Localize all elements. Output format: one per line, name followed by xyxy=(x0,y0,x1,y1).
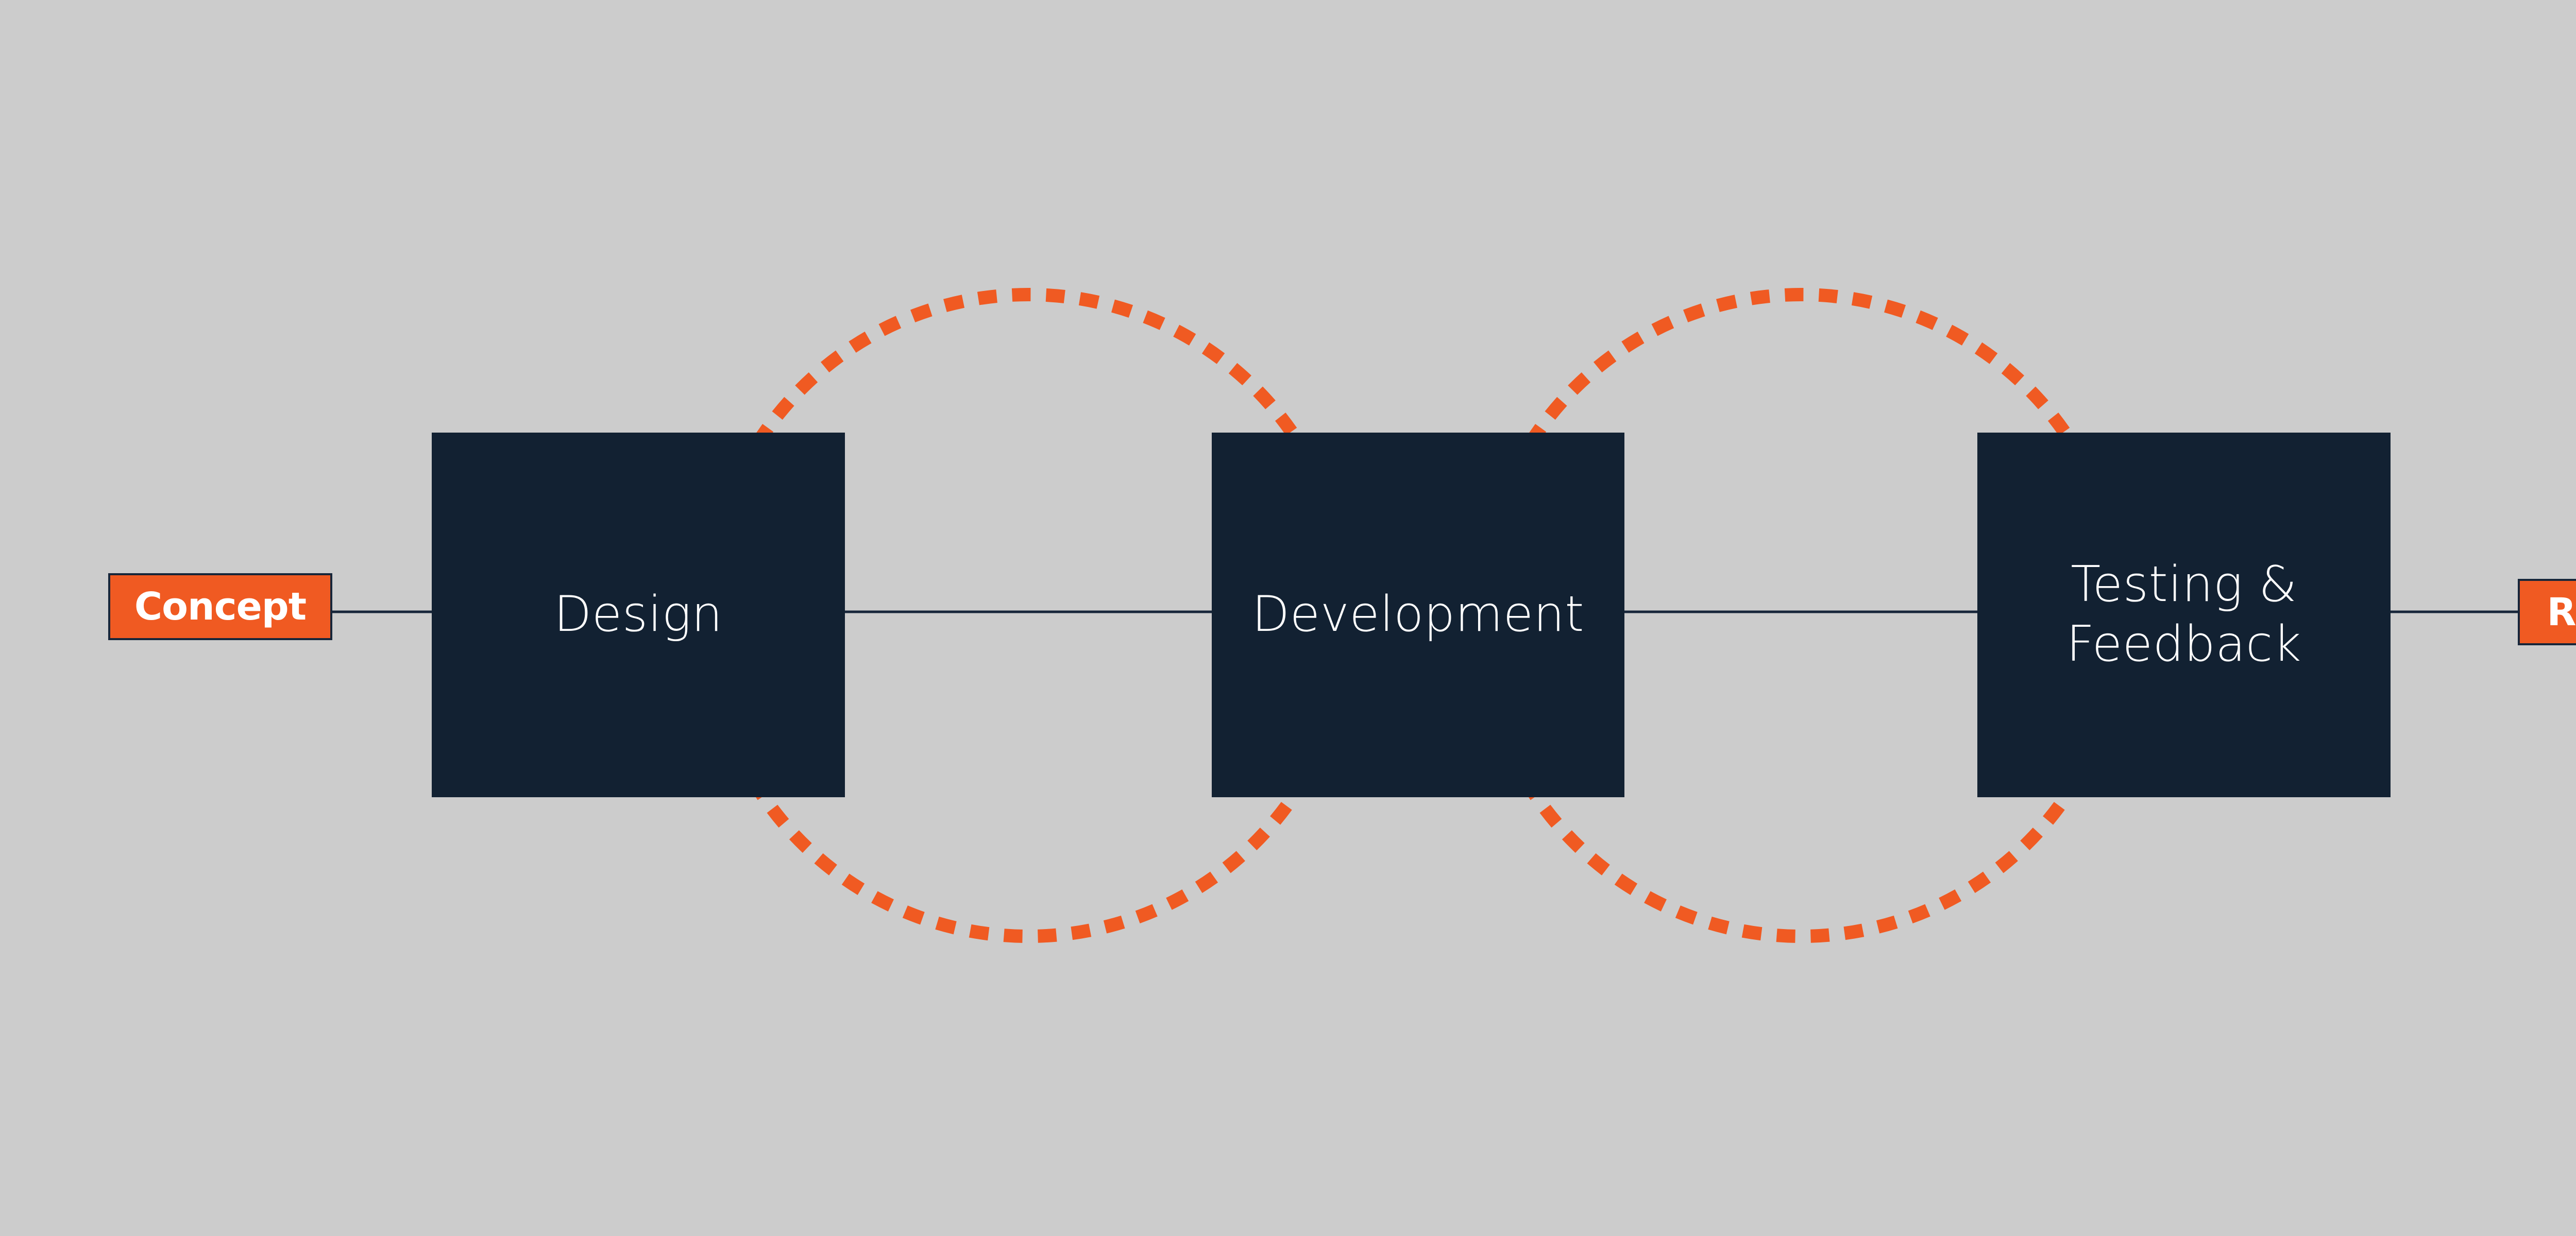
stage-box-label: Development xyxy=(1252,585,1584,645)
stage-box-design[interactable]: Design xyxy=(432,433,845,797)
diagram-canvas: Design Development Testing & Feedback Co… xyxy=(0,0,2576,1236)
stage-box-testing-feedback[interactable]: Testing & Feedback xyxy=(1977,433,2391,797)
endpoint-chip-release[interactable]: Release xyxy=(2518,579,2576,645)
stage-box-development[interactable]: Development xyxy=(1212,433,1624,797)
endpoint-chip-label: Concept xyxy=(134,588,306,626)
endpoint-chip-concept[interactable]: Concept xyxy=(108,573,332,640)
stage-box-label: Design xyxy=(554,585,723,645)
endpoint-chip-label: Release xyxy=(2547,593,2576,631)
stage-box-label: Testing & Feedback xyxy=(2066,555,2301,675)
